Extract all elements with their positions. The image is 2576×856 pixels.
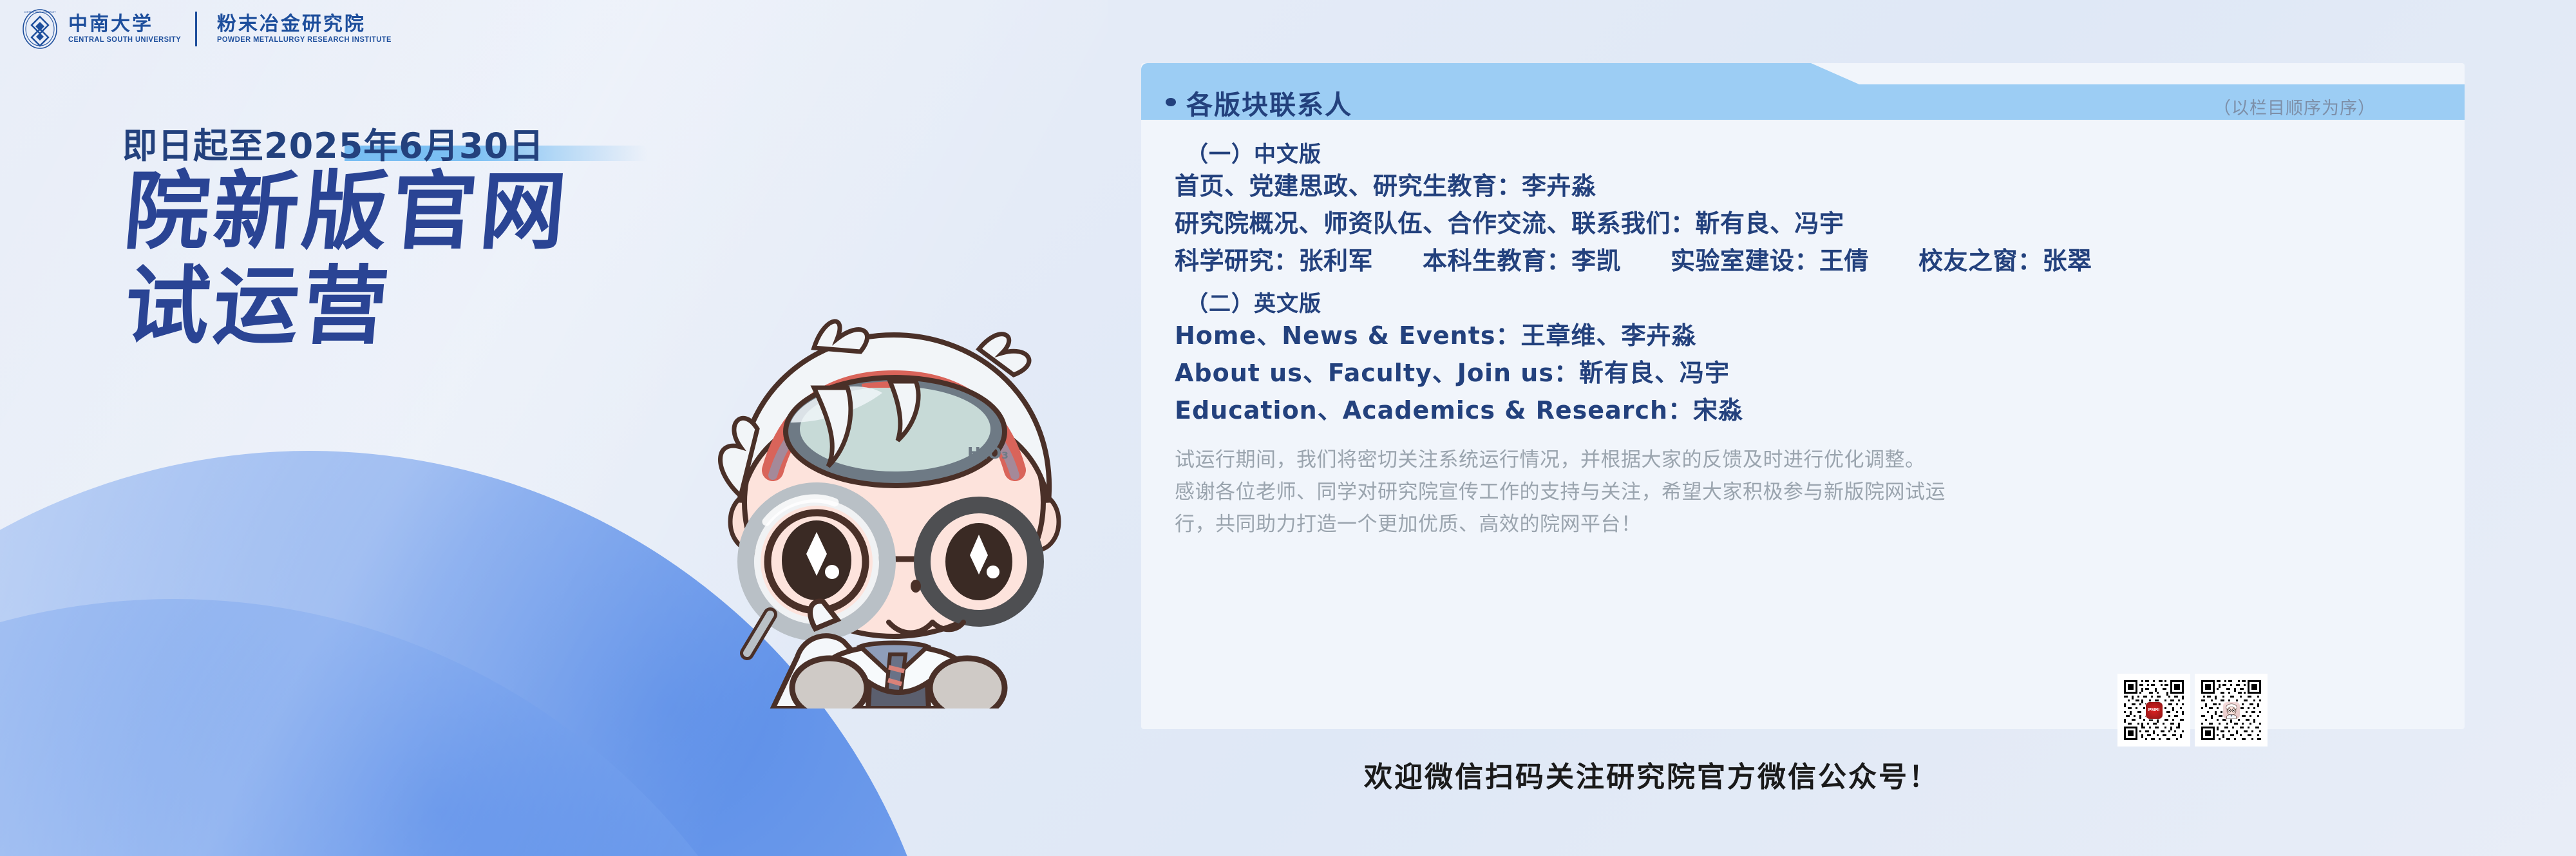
pmri-seal-label: PMRI [2148,708,2160,712]
scientist-mascot-avatar-icon [2222,701,2240,719]
note-line: 感谢各位老师、同学对研究院宣传工作的支持与关注，希望大家积极参与新版院网试运 [1175,476,2431,508]
contact-line: Home、News & Events：王章维、李卉淼 [1175,318,2431,355]
pmri-seal-icon: PMRI [2145,701,2163,719]
bullet-dot-icon [1166,98,1176,106]
contact-line: Education、Academics & Research：宋淼 [1175,392,2431,430]
section-label-chinese: （一）中文版 [1175,137,2431,168]
section-label-english: （二）英文版 [1175,286,2431,318]
note-line: 行，共同助力打造一个更加优质、高效的院网平台！ [1175,508,2431,540]
mascot-avatar-glyph [2223,702,2240,719]
brand-en-name: CENTRAL SOUTH UNIVERSITY [68,36,181,44]
notes-block: 试运行期间，我们将密切关注系统运行情况，并根据大家的反馈及时进行优化调整。 感谢… [1175,444,2431,541]
card-body: （一）中文版 首页、党建思政、研究生教育：李卉淼 研究院概况、师资队伍、合作交流… [1141,120,2465,540]
logo-divider [195,12,197,46]
hero-date: 即日起至2025年6月30日 [122,117,544,162]
svg-text:CENTRAL SOUTH UNIVERSITY: CENTRAL SOUTH UNIVERSITY [24,11,57,14]
scientist-mascot-icon: H₂O₃ [676,309,1101,709]
wechat-cta-text: 欢迎微信扫码关注研究院官方微信公众号！ [1364,754,1939,795]
brand-logo: CENTRAL SOUTH UNIVERSITY 中南大学 CENTRAL SO… [22,9,399,49]
qr-canvas: PMRI [2122,678,2186,742]
contact-line: About us、Faculty、Join us：靳有良、冯宇 [1175,355,2431,392]
qr-canvas [2199,678,2263,742]
card-header-note: （以栏目顺序为序） [2213,94,2376,119]
note-line: 试运行期间，我们将密切关注系统运行情况，并根据大家的反馈及时进行优化调整。 [1175,444,2431,476]
card-header-title-row: 各版块联系人 [1166,84,1352,120]
card-header-title: 各版块联系人 [1186,83,1352,122]
qr-code-mascot[interactable] [2195,674,2268,747]
brand-cn-name: 中南大学 [68,14,185,34]
university-seal-icon: CENTRAL SOUTH UNIVERSITY [22,9,58,49]
hero-headline: 院新版官网 试运营 [121,169,565,350]
institute-en-name: POWDER METALLURGY RESEARCH INSTITUTE [217,36,392,44]
headline-line-2: 试运营 [121,263,573,350]
goggle-label: H₂O₃ [967,444,1009,462]
qr-code-pmri-seal[interactable]: PMRI [2117,674,2190,747]
date-text: 即日起至2025年6月30日 [122,117,544,168]
institute-cn-name: 粉末冶金研究院 [217,14,399,34]
contact-line: 研究院概况、师资队伍、合作交流、联系我们：靳有良、冯宇 [1175,205,2431,243]
headline-line-1: 院新版官网 [121,169,573,256]
contacts-card: 各版块联系人 （以栏目顺序为序） （一）中文版 首页、党建思政、研究生教育：李卉… [1141,63,2465,729]
contact-line: 科学研究：张利军 本科生教育：李凯 实验室建设：王倩 校友之窗：张翠 [1175,243,2431,280]
banner-canvas: CENTRAL SOUTH UNIVERSITY 中南大学 CENTRAL SO… [0,0,2576,856]
contact-line: 首页、党建思政、研究生教育：李卉淼 [1175,168,2431,205]
